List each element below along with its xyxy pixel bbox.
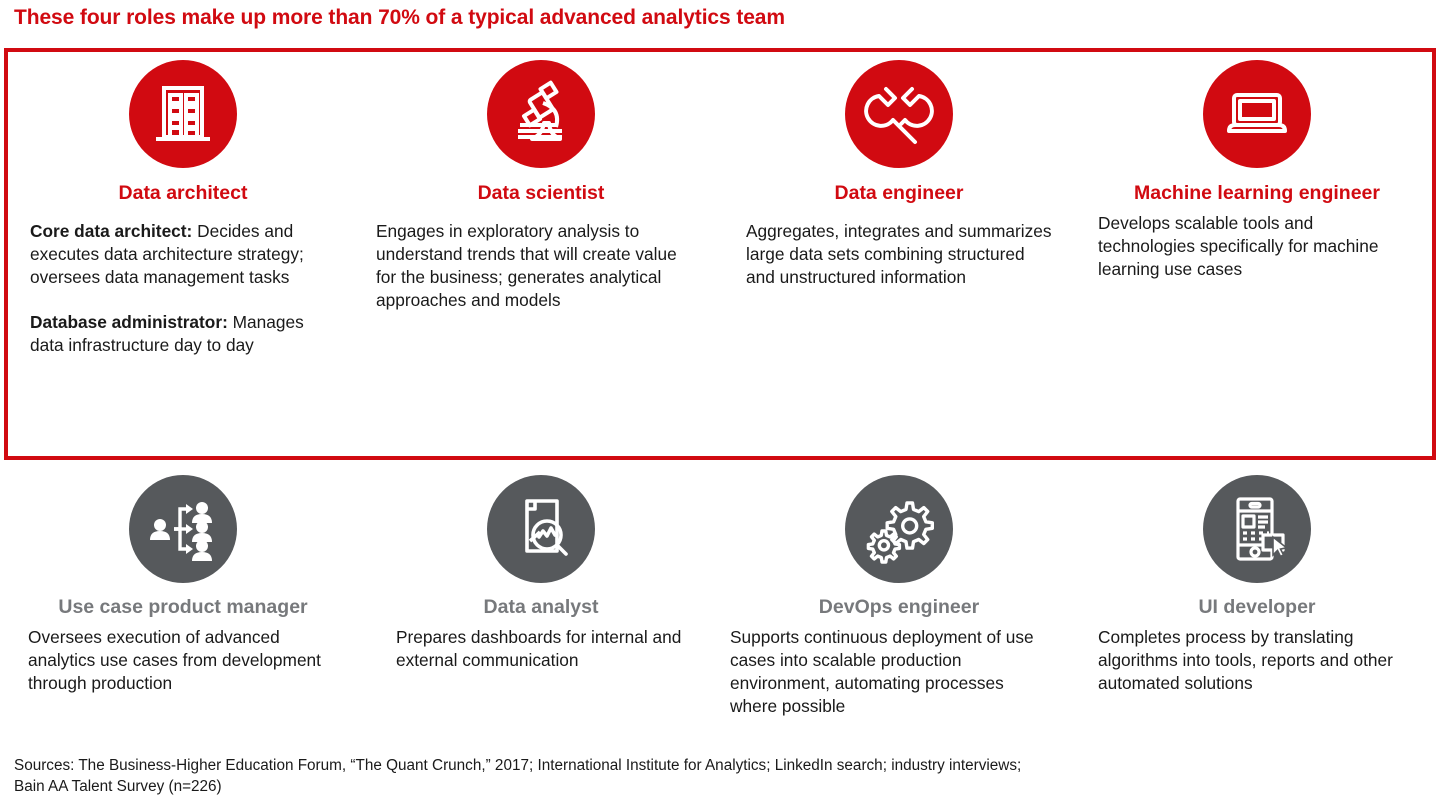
role-title: DevOps engineer — [746, 596, 1052, 618]
role-card-data-analyst: Data analyst Prepares dashboards for int… — [362, 470, 720, 740]
sources-footer: Sources: The Business-Higher Education F… — [14, 756, 1424, 798]
role-description-1: Oversees execution of advanced analytics… — [28, 626, 336, 695]
description-body: Prepares dashboards for internal and ext… — [396, 627, 681, 670]
role-description-1: Completes process by translating algorit… — [1098, 626, 1410, 695]
description-body: Completes process by translating algorit… — [1098, 627, 1393, 693]
wrench-icon — [845, 60, 953, 168]
role-title: Data analyst — [388, 596, 694, 618]
description-lead: Database administrator: — [30, 312, 228, 332]
icon-container — [388, 60, 694, 168]
icon-container — [30, 475, 336, 583]
description-body: Engages in exploratory analysis to under… — [376, 221, 677, 310]
gears-icon — [845, 475, 953, 583]
office-building-icon — [129, 60, 237, 168]
role-title: Data scientist — [388, 182, 694, 204]
sources-line-2: Bain AA Talent Survey (n=226) — [14, 777, 1424, 798]
description-body: Supports continuous deployment of use ca… — [730, 627, 1034, 716]
icon-container — [1104, 60, 1410, 168]
document-magnifier-chart-icon — [487, 475, 595, 583]
role-card-data-architect: Data architect Core data architect: Deci… — [4, 48, 362, 460]
role-card-data-engineer: Data engineer Aggregates, integrates and… — [720, 48, 1078, 460]
core-roles-row: Data architect Core data architect: Deci… — [4, 48, 1436, 460]
role-card-ml-engineer: Machine learning engineer Develops scala… — [1078, 48, 1436, 460]
role-description-1: Core data architect: Decides and execute… — [30, 220, 336, 289]
microscope-icon — [487, 60, 595, 168]
role-card-use-case-product-manager: Use case product manager Oversees execut… — [4, 470, 362, 740]
page-title: These four roles make up more than 70% o… — [14, 6, 1414, 30]
role-title: Use case product manager — [30, 596, 336, 618]
description-body: Develops scalable tools and technologies… — [1098, 213, 1378, 279]
supporting-roles-row: Use case product manager Oversees execut… — [4, 470, 1436, 740]
description-lead: Core data architect: — [30, 221, 192, 241]
role-card-data-scientist: Data scientist Engages in exploratory an… — [362, 48, 720, 460]
description-body: Oversees execution of advanced analytics… — [28, 627, 321, 693]
role-description-2: Database administrator: Manages data inf… — [30, 311, 336, 357]
role-card-devops-engineer: DevOps engineer Supports continuous depl… — [720, 470, 1078, 740]
role-title: Machine learning engineer — [1104, 182, 1410, 204]
people-workflow-icon — [129, 475, 237, 583]
icon-container — [1104, 475, 1410, 583]
role-card-ui-developer: UI developer Completes process by transl… — [1078, 470, 1436, 740]
role-title: Data architect — [30, 182, 336, 204]
infographic-page: These four roles make up more than 70% o… — [0, 0, 1440, 810]
icon-container — [30, 60, 336, 168]
sources-line-1: Sources: The Business-Higher Education F… — [14, 756, 1424, 777]
role-title: Data engineer — [746, 182, 1052, 204]
icon-container — [746, 60, 1052, 168]
role-description-1: Prepares dashboards for internal and ext… — [396, 626, 694, 672]
icon-container — [746, 475, 1052, 583]
mobile-ui-cursor-icon — [1203, 475, 1311, 583]
description-body: Aggregates, integrates and summarizes la… — [746, 221, 1051, 287]
role-title: UI developer — [1104, 596, 1410, 618]
laptop-icon — [1203, 60, 1311, 168]
role-description-1: Supports continuous deployment of use ca… — [730, 626, 1052, 718]
icon-container — [388, 475, 694, 583]
role-description-1: Develops scalable tools and technologies… — [1098, 212, 1410, 281]
role-description-1: Aggregates, integrates and summarizes la… — [746, 220, 1052, 289]
role-description-1: Engages in exploratory analysis to under… — [376, 220, 694, 312]
